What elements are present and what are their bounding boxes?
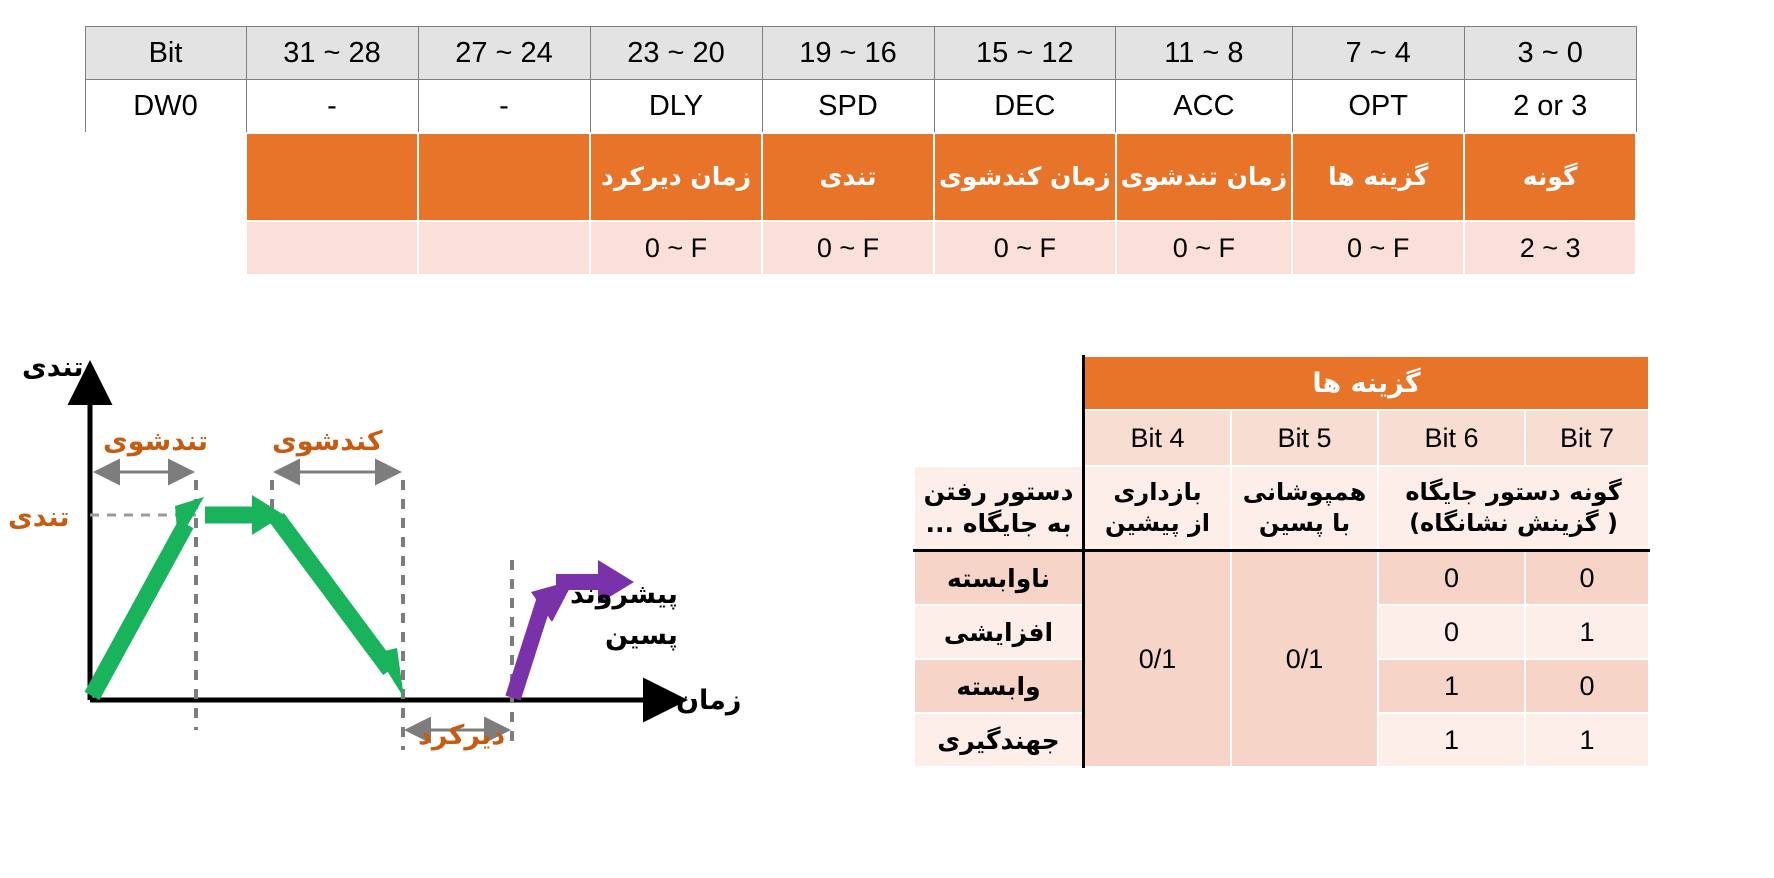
bit-table-dw0-row: DW0 - - DLY SPD DEC ACC OPT 2 or 3 — [85, 80, 1636, 134]
option-rowlabel-header-line2: به جایگاه ... — [921, 508, 1076, 541]
dw0-cell-3: DLY — [590, 80, 762, 134]
y-axis-label: تندی — [22, 352, 84, 383]
options-title: گزینه ها — [1084, 356, 1650, 410]
dw0-cell-6: ACC — [1116, 80, 1293, 134]
dw0-cell-8: 2 or 3 — [1464, 80, 1636, 134]
options-title-spacer — [914, 356, 1084, 410]
range-cell-5: 0 ~ F — [934, 221, 1116, 275]
bit-header-cell-0: Bit — [85, 27, 246, 80]
option-row1-bit6: 0 — [1378, 605, 1525, 659]
options-bit-table: گزینه ها Bit 7 Bit 6 Bit 5 Bit 4 گونه دس… — [913, 355, 1650, 768]
option-row3-bit7: 1 — [1525, 713, 1649, 767]
option-row1-bit7: 1 — [1525, 605, 1649, 659]
slide-canvas: Bit 31 ~ 28 27 ~ 24 23 ~ 20 19 ~ 16 15 ~… — [0, 0, 1774, 878]
bit-header-cell-7: 7 ~ 4 — [1292, 27, 1464, 80]
fa-cell-5: زمان کندشوی — [934, 133, 1116, 221]
option-row1-label: افزایشی — [914, 605, 1084, 659]
dw0-cell-7: OPT — [1292, 80, 1464, 134]
next-move-annotation-line2: پسین — [605, 620, 678, 651]
option-rowlabel-header-line1: دستور رفتن — [921, 476, 1076, 509]
option-row2-bit7: 0 — [1525, 659, 1649, 713]
option-desc-bit5-line2: با پسین — [1238, 508, 1371, 539]
fa-cell-3: زمان دیرکرد — [590, 133, 762, 221]
options-description-row: گونه دستور جایگاه ( گزینش نشانگاه) همپوش… — [914, 466, 1649, 551]
bit-header-cell-2: 27 ~ 24 — [418, 27, 590, 80]
next-move-rise — [513, 598, 545, 698]
bit-header-cell-3: 23 ~ 20 — [590, 27, 762, 80]
dw0-cell-4: SPD — [762, 80, 934, 134]
range-cell-2 — [418, 221, 590, 275]
option-row0-label: ناوابسته — [914, 551, 1084, 606]
option-bit4-value: 0/1 — [1084, 551, 1232, 768]
decel-arrowhead — [376, 648, 404, 698]
dw0-cell-1: - — [246, 80, 418, 134]
options-bit-header-row: Bit 7 Bit 6 Bit 5 Bit 4 — [914, 410, 1649, 466]
velocity-profile-arrows — [92, 495, 404, 698]
bit-header-cell-1: 31 ~ 28 — [246, 27, 418, 80]
fa-cell-1 — [246, 133, 418, 221]
option-desc-bit5-line1: همپوشانی — [1238, 477, 1371, 508]
range-cell-7: 0 ~ F — [1292, 221, 1464, 275]
range-cell-4: 0 ~ F — [762, 221, 934, 275]
fa-cell-4: تندی — [762, 133, 934, 221]
option-desc-bit76: گونه دستور جایگاه ( گزینش نشانگاه) — [1378, 466, 1649, 551]
next-move-annotation-line1: پیشروند — [570, 579, 678, 610]
option-row0-bit7: 0 — [1525, 551, 1649, 606]
accel-segment — [92, 524, 186, 696]
option-desc-bit5: همپوشانی با پسین — [1231, 466, 1378, 551]
bit-table-persian-row: زمان دیرکرد تندی زمان کندشوی زمان تندشوی… — [85, 133, 1636, 221]
option-bit-header-6: Bit 6 — [1378, 410, 1525, 466]
bit-header-cell-5: 15 ~ 12 — [934, 27, 1116, 80]
option-desc-bit4: بازداری از پیشین — [1084, 466, 1232, 551]
next-move-annotation: پیشروند پسین — [570, 575, 678, 656]
option-bit5-value: 0/1 — [1231, 551, 1378, 768]
delay-annotation: دیرکرد — [418, 720, 505, 751]
speed-level-label: تندی — [8, 502, 70, 533]
option-row2-bit6: 1 — [1378, 659, 1525, 713]
dw0-cell-2: - — [418, 80, 590, 134]
bit-table-range-row: 0 ~ F 0 ~ F 0 ~ F 0 ~ F 0 ~ F 2 ~ 3 — [85, 221, 1636, 275]
fa-cell-0 — [85, 133, 246, 221]
bit-definition-table: Bit 31 ~ 28 27 ~ 24 23 ~ 20 19 ~ 16 15 ~… — [84, 26, 1637, 276]
options-title-row: گزینه ها — [914, 356, 1649, 410]
chart-svg — [0, 330, 790, 770]
fa-cell-2 — [418, 133, 590, 221]
bit-header-cell-4: 19 ~ 16 — [762, 27, 934, 80]
bit-table-header-row: Bit 31 ~ 28 27 ~ 24 23 ~ 20 19 ~ 16 15 ~… — [85, 27, 1636, 80]
acceleration-annotation: تندشوی — [103, 426, 208, 457]
bit-header-cell-6: 11 ~ 8 — [1116, 27, 1293, 80]
options-bit-header-spacer — [914, 410, 1084, 466]
option-desc-bit76-line1: گونه دستور جایگاه — [1385, 477, 1642, 508]
fa-cell-7: گزینه ها — [1292, 133, 1464, 221]
range-cell-3: 0 ~ F — [590, 221, 762, 275]
option-bit-header-7: Bit 7 — [1525, 410, 1649, 466]
fa-cell-8: گونه — [1464, 133, 1636, 221]
bit-header-cell-8: 3 ~ 0 — [1464, 27, 1636, 80]
option-desc-bit4-line1: بازداری — [1091, 477, 1224, 508]
decel-segment — [277, 518, 390, 670]
range-cell-8: 2 ~ 3 — [1464, 221, 1636, 275]
option-rowlabel-header: دستور رفتن به جایگاه ... — [914, 466, 1084, 551]
option-row3-bit6: 1 — [1378, 713, 1525, 767]
option-bit-header-4: Bit 4 — [1084, 410, 1232, 466]
range-cell-0 — [85, 221, 246, 275]
x-axis-label: زمان — [676, 685, 741, 716]
fa-cell-6: زمان تندشوی — [1116, 133, 1293, 221]
range-cell-1 — [246, 221, 418, 275]
option-desc-bit4-line2: از پیشین — [1091, 508, 1224, 539]
dw0-cell-0: DW0 — [85, 80, 246, 134]
option-bit-header-5: Bit 5 — [1231, 410, 1378, 466]
velocity-profile-chart: تندی زمان تندی تندشوی کندشوی دیرکرد پیشر… — [0, 330, 790, 770]
option-desc-bit76-line2: ( گزینش نشانگاه) — [1385, 508, 1642, 539]
dw0-cell-5: DEC — [934, 80, 1116, 134]
deceleration-annotation: کندشوی — [272, 426, 383, 457]
table-row: 0 0 0/1 0/1 ناوابسته — [914, 551, 1649, 606]
option-row3-label: جهندگیری — [914, 713, 1084, 767]
option-row0-bit6: 0 — [1378, 551, 1525, 606]
range-cell-6: 0 ~ F — [1116, 221, 1293, 275]
option-row2-label: وابسته — [914, 659, 1084, 713]
